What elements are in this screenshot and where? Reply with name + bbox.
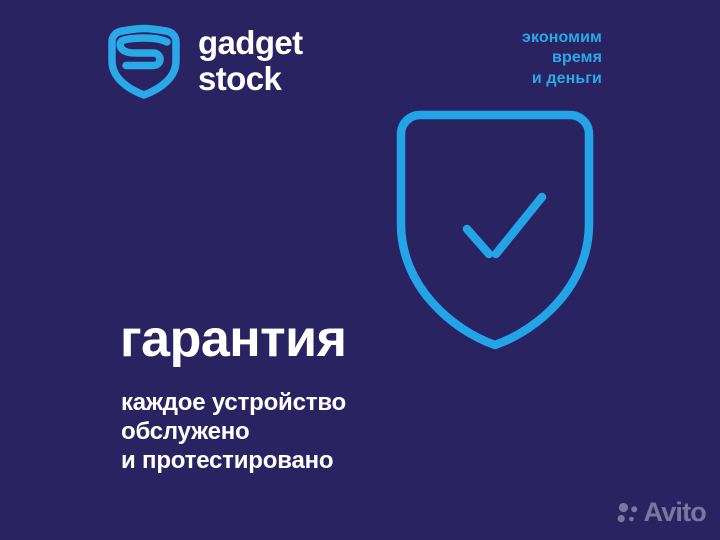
brand-wordmark: gadget stock (198, 25, 303, 96)
shield-logo-icon (104, 20, 184, 100)
page-title: гарантия (120, 313, 346, 365)
brand-logo-lockup[interactable]: gadget stock (104, 20, 303, 100)
avito-watermark: Avito (616, 499, 707, 526)
brand-name-line-1: gadget (198, 25, 303, 61)
shield-check-icon (392, 106, 598, 354)
avito-wordmark: Avito (644, 499, 707, 526)
tagline: экономим время и деньги (522, 28, 602, 89)
promo-banner: gadget stock экономим время и деньги гар… (0, 0, 720, 540)
tagline-line-2: время (522, 48, 602, 68)
body-line-1: каждое устройство (121, 389, 346, 418)
body-line-3: и протестировано (121, 447, 346, 476)
tagline-line-1: экономим (522, 28, 602, 48)
tagline-line-3: и деньги (522, 69, 602, 89)
brand-name-line-2: stock (198, 61, 303, 97)
body-copy: каждое устройство обслужено и протестиро… (121, 389, 346, 475)
avito-dots-icon (616, 501, 640, 525)
body-line-2: обслужено (121, 418, 346, 447)
